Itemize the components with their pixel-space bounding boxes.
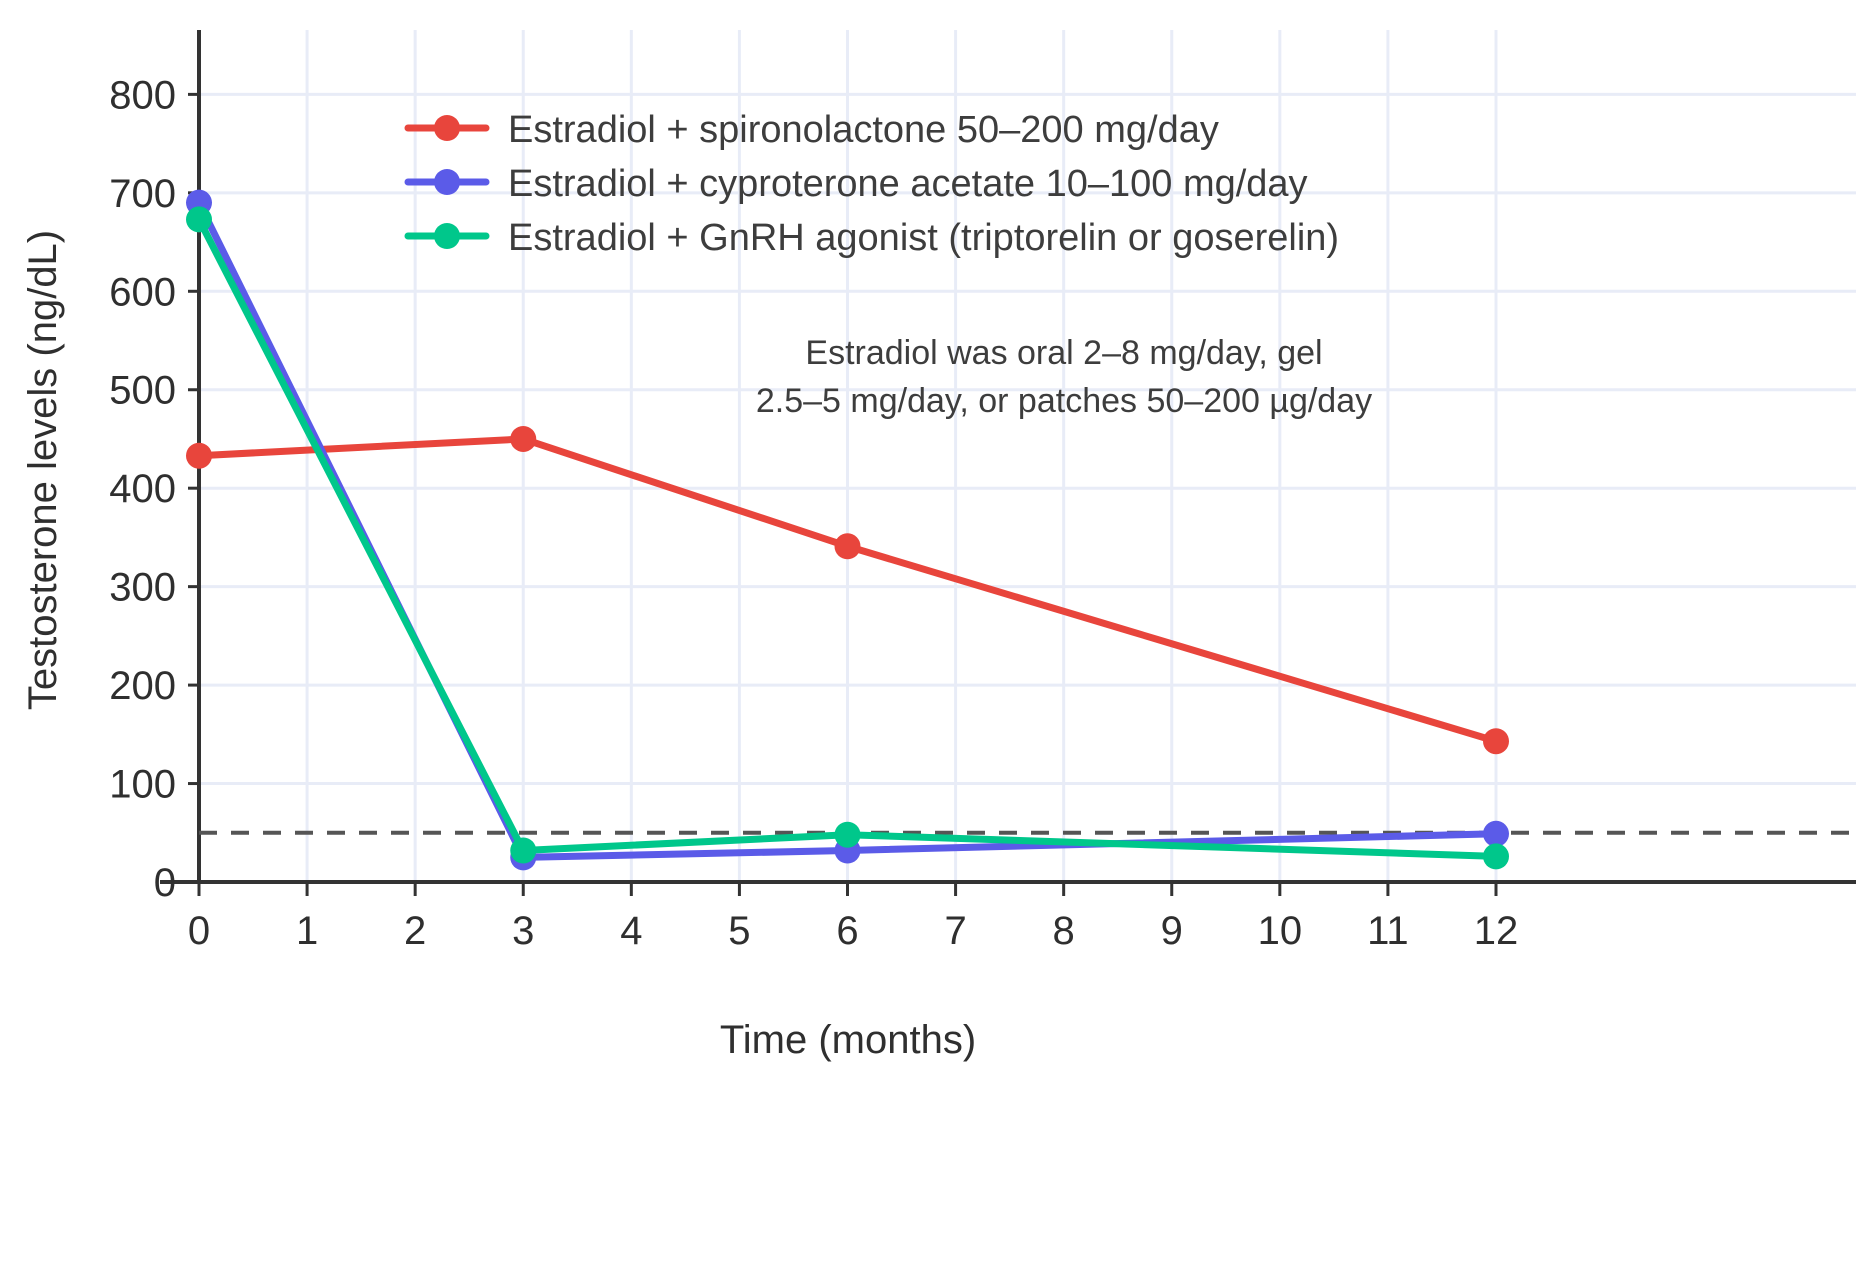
y-tick-label: 400 bbox=[109, 467, 176, 511]
x-tick-label: 7 bbox=[944, 909, 966, 953]
y-tick-label: 0 bbox=[154, 861, 176, 905]
data-point[interactable] bbox=[186, 206, 212, 232]
x-tick-label: 2 bbox=[404, 909, 426, 953]
legend-swatch-marker bbox=[434, 169, 460, 195]
x-tick-label: 3 bbox=[512, 909, 534, 953]
x-tick-label: 0 bbox=[188, 909, 210, 953]
x-tick-label: 12 bbox=[1474, 909, 1519, 953]
x-tick-label: 6 bbox=[836, 909, 858, 953]
legend-item-1[interactable]: Estradiol + spironolactone 50–200 mg/day bbox=[408, 109, 1219, 151]
legend-swatch-marker bbox=[434, 115, 460, 141]
legend-swatch-marker bbox=[434, 223, 460, 249]
y-axis-title: Testosterone levels (ng/dL) bbox=[21, 230, 65, 710]
legend-item-3[interactable]: Estradiol + GnRH agonist (triptorelin or… bbox=[408, 217, 1339, 259]
chart-legend[interactable]: Estradiol + spironolactone 50–200 mg/day… bbox=[408, 109, 1339, 259]
y-tick-label: 500 bbox=[109, 369, 176, 413]
x-tick-label: 11 bbox=[1367, 909, 1409, 953]
x-tick-label: 9 bbox=[1161, 909, 1183, 953]
testosterone-line-chart: 8007006005004003002001000 01234567891011… bbox=[0, 0, 1856, 1284]
data-point[interactable] bbox=[510, 837, 536, 863]
x-tick-label: 4 bbox=[620, 909, 642, 953]
legend-item-2[interactable]: Estradiol + cyproterone acetate 10–100 m… bbox=[408, 163, 1308, 205]
legend-label: Estradiol + cyproterone acetate 10–100 m… bbox=[508, 163, 1308, 205]
annotation-line-1: Estradiol was oral 2–8 mg/day, gel bbox=[805, 334, 1322, 372]
data-point[interactable] bbox=[1483, 821, 1509, 847]
legend-label: Estradiol + GnRH agonist (triptorelin or… bbox=[508, 217, 1339, 259]
data-point[interactable] bbox=[1483, 843, 1509, 869]
chart-container: 8007006005004003002001000 01234567891011… bbox=[0, 0, 1856, 1284]
y-tick-label: 300 bbox=[109, 566, 176, 610]
y-tick-label: 800 bbox=[109, 73, 176, 117]
annotation-line-2: 2.5–5 mg/day, or patches 50–200 µg/day bbox=[756, 382, 1372, 420]
data-point[interactable] bbox=[510, 426, 536, 452]
x-tick-label: 5 bbox=[728, 909, 750, 953]
legend-label: Estradiol + spironolactone 50–200 mg/day bbox=[508, 109, 1219, 151]
data-point[interactable] bbox=[186, 443, 212, 469]
y-tick-label: 100 bbox=[109, 763, 176, 807]
x-tick-label: 8 bbox=[1053, 909, 1075, 953]
x-axis-title: Time (months) bbox=[720, 1018, 976, 1062]
x-tick-label: 1 bbox=[296, 909, 318, 953]
y-tick-label: 200 bbox=[109, 664, 176, 708]
x-tick-label: 10 bbox=[1258, 909, 1303, 953]
y-tick-label: 600 bbox=[109, 270, 176, 314]
data-point[interactable] bbox=[1483, 728, 1509, 754]
data-point[interactable] bbox=[835, 822, 861, 848]
y-tick-label: 700 bbox=[109, 172, 176, 216]
data-point[interactable] bbox=[835, 533, 861, 559]
